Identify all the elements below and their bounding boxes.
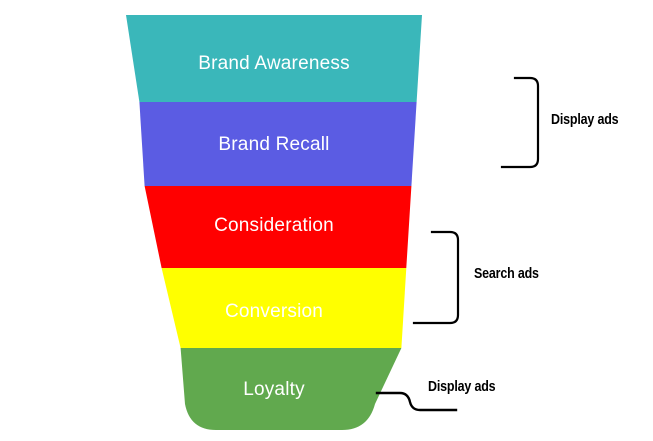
right-bracket-icon-2 [414,232,458,323]
annotation-label-display-ads-bottom: Display ads [428,379,495,395]
funnel-stage-label-2: Brand Recall [218,134,329,155]
funnel-stage-consideration[interactable]: Consideration [145,186,412,268]
funnel-svg: Brand Awareness Brand Recall Considerati… [0,0,653,441]
annotation-label-search-ads: Search ads [474,266,539,282]
annotation-bracket-display-ads-top[interactable] [502,78,538,167]
step-connector-icon [377,393,456,410]
funnel-stage-label-3: Consideration [214,215,334,236]
annotation-label-display-ads-top: Display ads [551,112,618,128]
funnel-stage-label-4: Conversion [225,301,323,322]
funnel-stage-brand-awareness[interactable]: Brand Awareness [126,15,422,102]
funnel-diagram-canvas: Brand Awareness Brand Recall Considerati… [0,0,653,441]
right-bracket-icon-1 [502,78,538,167]
funnel-stage-brand-recall[interactable]: Brand Recall [139,102,416,186]
annotation-connector-display-ads-bottom[interactable] [377,393,456,410]
funnel-stage-label-5: Loyalty [243,379,305,400]
funnel-stage-label-1: Brand Awareness [198,53,350,74]
funnel-stage-loyalty[interactable]: Loyalty [181,348,402,430]
funnel-stage-conversion[interactable]: Conversion [162,268,407,348]
annotation-bracket-search-ads[interactable] [414,232,458,323]
